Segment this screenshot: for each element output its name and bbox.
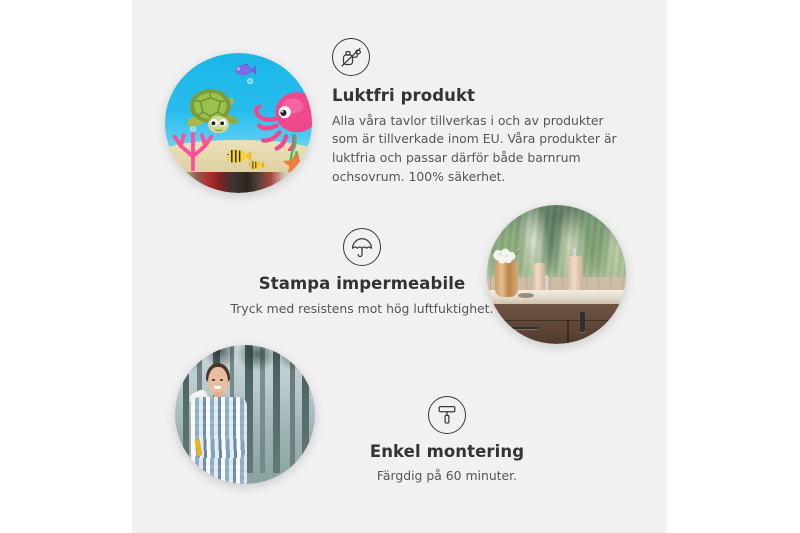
woman-figure [183, 364, 256, 484]
soap-dispenser [568, 256, 583, 292]
feature-panel: Luktfri produkt Alla våra tavlor tillver… [132, 0, 667, 533]
feature-image-3-inner [175, 345, 315, 484]
perfume-bottle-crossed-out-icon [332, 38, 370, 76]
feature-title-1: Luktfri produkt [332, 86, 620, 107]
feature-title-3: Enkel montering [322, 442, 572, 463]
feature-image-3 [175, 345, 315, 484]
vanity-seam [487, 320, 626, 322]
pink-coral-icon [168, 129, 218, 171]
umbrella-icon [343, 228, 381, 266]
dispenser-pump-icon [573, 248, 576, 258]
feature-description-2: Tryck med resistens mot hög luftfuktighe… [192, 300, 532, 319]
feature-title-2: Stampa impermeabile [192, 274, 532, 295]
starfish-icon [281, 151, 310, 173]
feature-image-1 [165, 53, 312, 193]
screenshot-stage: Luktfri produkt Alla våra tavlor tillver… [0, 0, 800, 533]
cabinet-handle [580, 312, 586, 331]
feature-block-3: Enkel montering Färgdig på 60 minuter. [322, 396, 572, 485]
letterbox-left [0, 0, 132, 533]
paint-roller-icon [428, 396, 466, 434]
small-fish-icon [247, 158, 265, 172]
feature-description-1: Alla våra tavlor tillverkas i och av pro… [332, 112, 620, 187]
soap-bottle [533, 263, 546, 292]
feature-image-1-inner [165, 53, 312, 193]
bottom-photo-strip [165, 172, 312, 193]
blue-fish-icon [233, 61, 257, 79]
vanity-seam [567, 320, 569, 344]
drawer-handle [504, 327, 539, 329]
feature-description-3: Färgdig på 60 minuter. [322, 467, 572, 486]
letterbox-right [667, 0, 800, 533]
feature-block-2: Stampa impermeabile Tryck med resistens … [192, 228, 532, 318]
feature-block-1: Luktfri produkt Alla våra tavlor tillver… [332, 38, 620, 187]
